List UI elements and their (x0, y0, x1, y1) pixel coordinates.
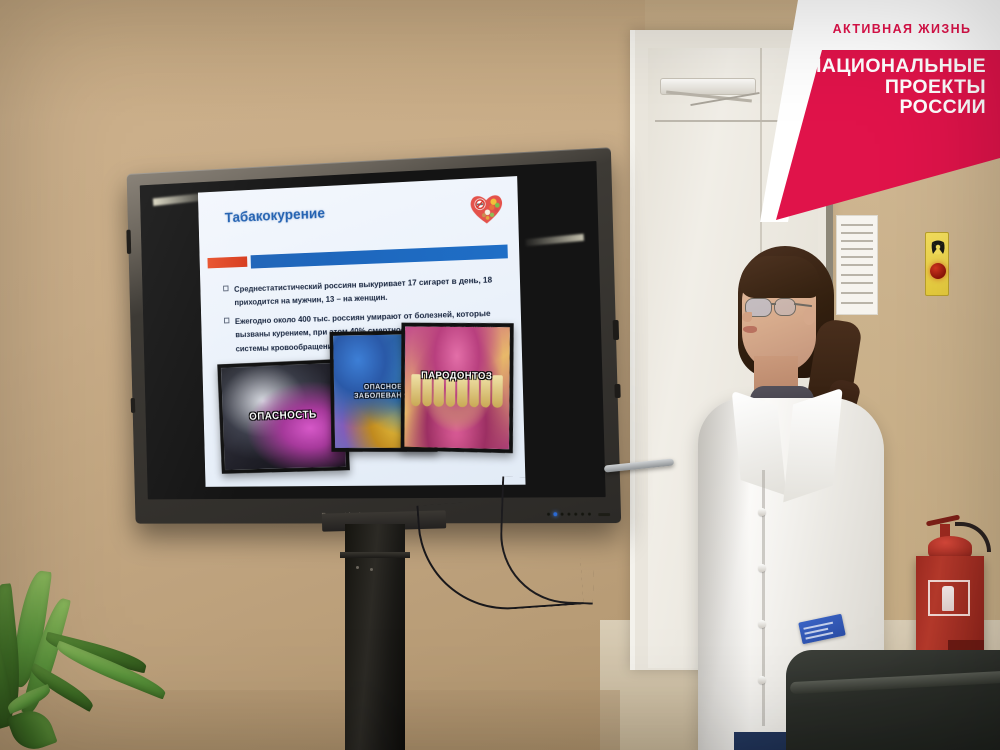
ir-receiver-icon (598, 513, 610, 516)
presentation-slide[interactable]: Табакокурение (198, 176, 525, 487)
bullet-square-icon (223, 285, 228, 291)
fire-extinguisher-icon (942, 586, 954, 611)
radiation-icon (930, 239, 946, 255)
bullet-text: Среднестатистический россиян выкуривает … (234, 272, 502, 309)
banner-title-line-3: РОССИИ (796, 97, 986, 118)
banner-title-line-1: НАЦИОНАЛЬНЫЕ (796, 56, 986, 77)
slide-title: Табакокурение (225, 205, 326, 226)
display-side-port (613, 320, 619, 340)
lips (743, 326, 757, 333)
glass-reflection-right (526, 234, 584, 247)
national-projects-banner: АКТИВНАЯ ЖИЗНЬ НАЦИОНАЛЬНЫЕ ПРОЕКТЫ РОСС… (700, 0, 1000, 225)
glasses-right-lens (774, 298, 796, 316)
nose (742, 312, 752, 322)
slide-accent-red-bar (207, 257, 247, 269)
potted-plant (0, 570, 212, 750)
radiation-warning-sign (925, 232, 949, 296)
display-stand-collar (340, 552, 410, 558)
banner-title-line-2: ПРОЕКТЫ (796, 77, 986, 98)
heart-no-smoking-icon (468, 190, 505, 226)
slide-photo: ПАРОДОНТОЗ (400, 323, 513, 453)
display-bezel: Табакокурение (127, 147, 622, 523)
display-panel[interactable]: Табакокурение (140, 161, 606, 499)
banner-title: НАЦИОНАЛЬНЫЕ ПРОЕКТЫ РОССИИ (796, 56, 992, 118)
warning-lamp-icon (930, 263, 946, 279)
bullet-square-icon (224, 318, 229, 324)
list-item: Среднестатистический россиян выкуривает … (223, 272, 502, 309)
fire-extinguisher (928, 536, 972, 558)
glasses-bridge (771, 303, 776, 305)
display-side-port-secondary (614, 384, 620, 398)
ear (803, 308, 815, 325)
slide-photo-caption: ПАРОДОНТОЗ (405, 370, 509, 382)
display-left-port-secondary (131, 398, 136, 413)
photo-scene: Табакокурение (0, 0, 1000, 750)
dark-leather-chair[interactable] (786, 650, 1000, 750)
interactive-display[interactable]: Табакокурение (127, 147, 622, 523)
display-left-port (126, 230, 131, 254)
hair-fringe (740, 256, 820, 298)
slide-accent-blue-bar (250, 245, 507, 268)
banner-tagline: АКТИВНАЯ ЖИЗНЬ (812, 22, 992, 36)
